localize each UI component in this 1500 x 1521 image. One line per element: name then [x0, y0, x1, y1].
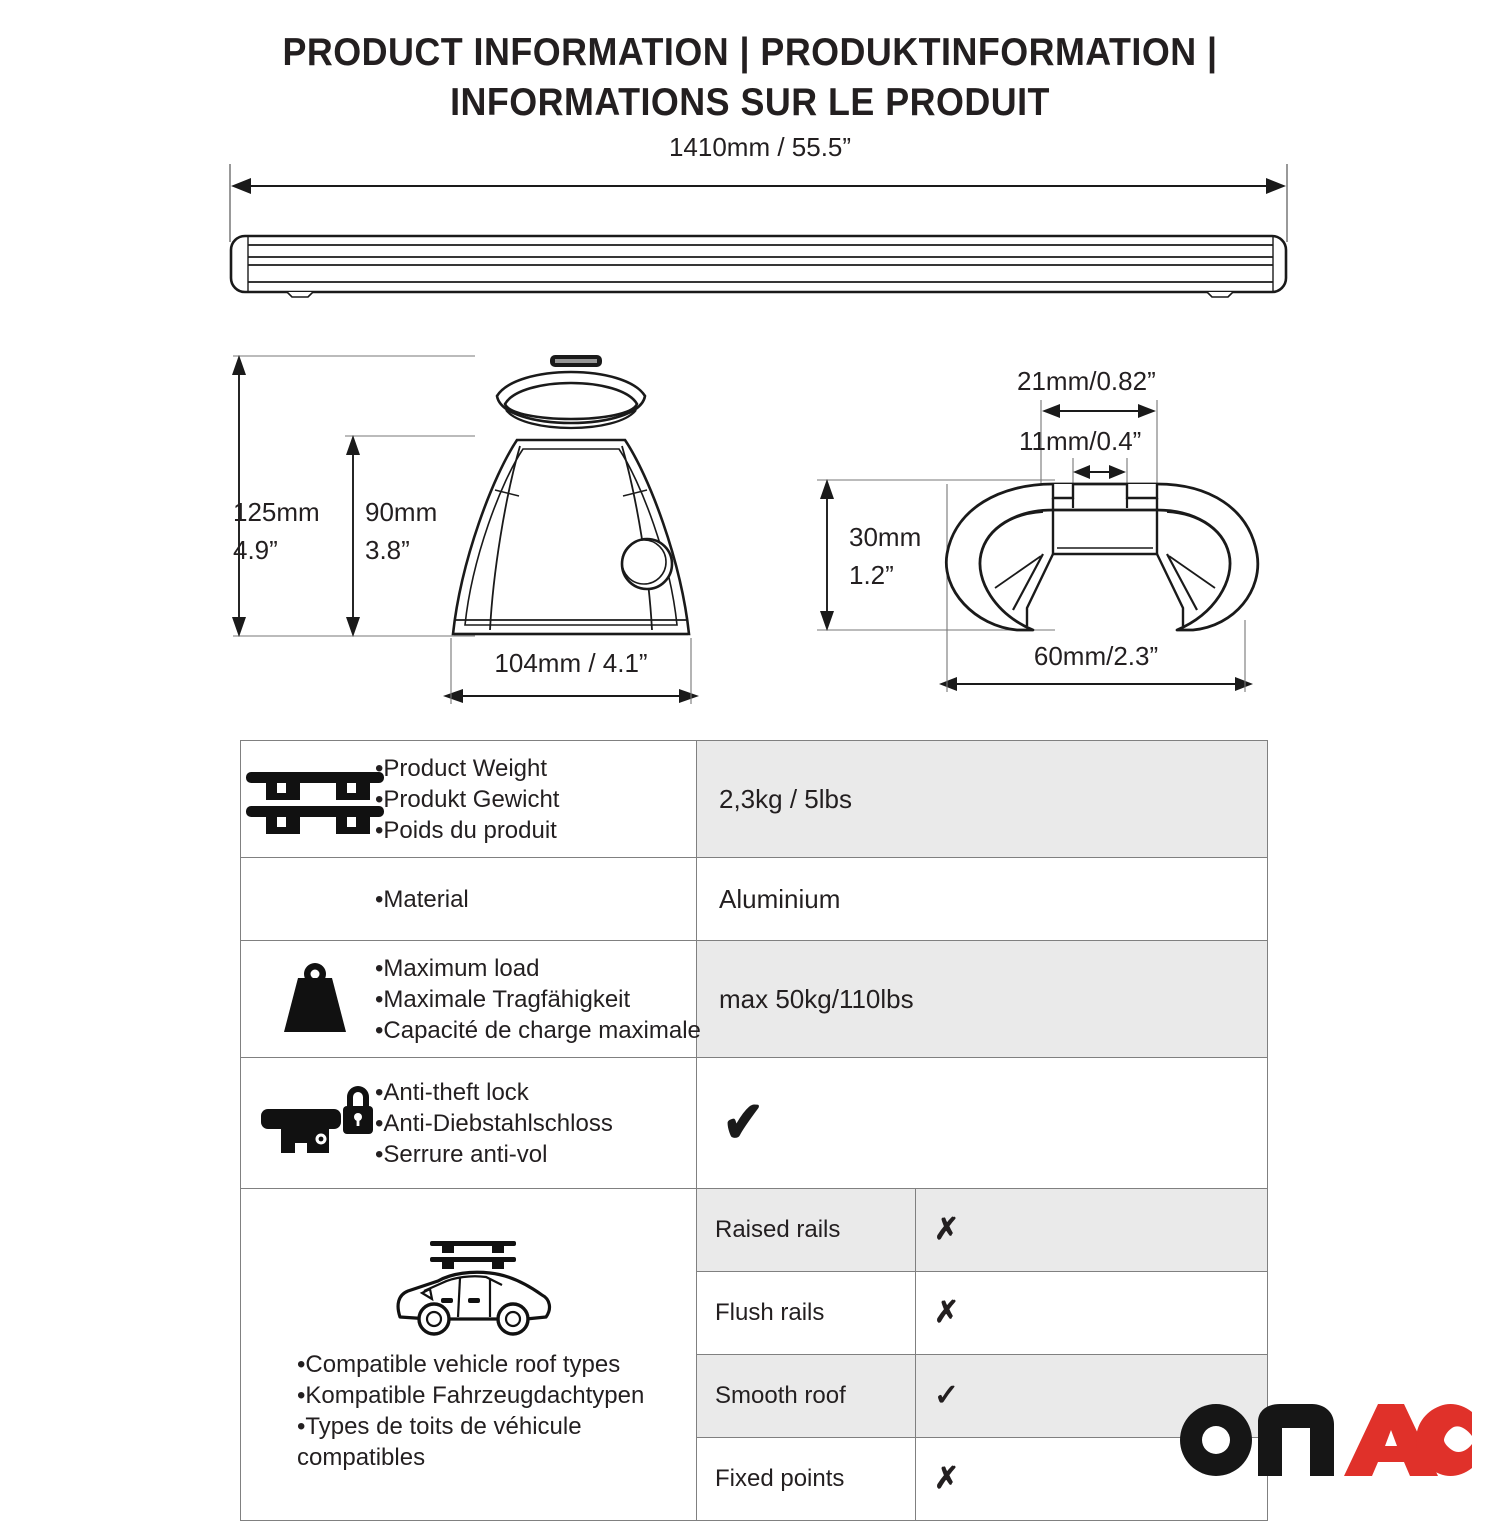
car-with-roofbars-icon	[386, 1233, 561, 1343]
spec-value-weight: 2,3kg / 5lbs	[697, 741, 1268, 858]
spec-value-maxload: max 50kg/110lbs	[697, 941, 1268, 1058]
spec-label-line: •Maximale Tragfähigkeit	[375, 984, 701, 1015]
spec-label-cell-material: •Material	[241, 858, 697, 941]
profile-top-width-label: 21mm/0.82”	[1017, 366, 1156, 397]
weight-icon	[255, 962, 375, 1036]
spec-label-texts-material: •Material	[375, 884, 469, 915]
profile-height-mm: 30mm	[849, 518, 921, 556]
page-title: PRODUCT INFORMATION | PRODUKTINFORMATION…	[0, 28, 1500, 128]
spec-label-cell-weight: •Product Weight •Produkt Gewicht •Poids …	[241, 741, 697, 858]
tower-inner-height-in: 3.8”	[365, 531, 437, 569]
cross-mark-icon: ✗	[934, 1462, 959, 1495]
spec-value-material: Aluminium	[697, 858, 1268, 941]
table-row: •Product Weight •Produkt Gewicht •Poids …	[241, 741, 1268, 858]
spec-label-line: •Produkt Gewicht	[375, 784, 559, 815]
spec-label-line: •Serrure anti-vol	[375, 1139, 613, 1170]
roof-option-name: Fixed points	[697, 1438, 916, 1521]
spec-label-line: •Capacité de charge maximale	[375, 1015, 701, 1046]
omac-logo	[1172, 1400, 1472, 1478]
spec-label-line: •Maximum load	[375, 953, 701, 984]
tower-dimension-diagram: 125mm 4.9” 90mm 3.8” 104mm / 4.1”	[225, 348, 725, 708]
spec-value-lock: ✔	[697, 1058, 1268, 1189]
spec-label-line: •Poids du produit	[375, 815, 559, 846]
lock-icon	[255, 1087, 375, 1159]
spec-label-line: •Compatible vehicle roof types	[297, 1349, 644, 1380]
product-information-sheet: PRODUCT INFORMATION | PRODUKTINFORMATION…	[0, 0, 1500, 1500]
profile-height-in: 1.2”	[849, 556, 921, 594]
roof-option-row: Raised rails ✗	[697, 1189, 1267, 1272]
roof-option-mark: ✗	[916, 1189, 1268, 1272]
spec-label-line: •Anti-Diebstahlschloss	[375, 1108, 613, 1139]
roof-option-name: Smooth roof	[697, 1355, 916, 1438]
roof-option-mark: ✗	[916, 1272, 1268, 1355]
spec-label-line: •Product Weight	[375, 753, 559, 784]
cross-mark-icon: ✗	[934, 1213, 959, 1246]
tower-inner-height-mm: 90mm	[365, 493, 437, 531]
spec-label-line: •Kompatible Fahrzeugdachtypen	[297, 1380, 644, 1411]
spec-label-cell-roof-types: •Compatible vehicle roof types •Kompatib…	[241, 1189, 697, 1521]
spec-label-cell-maxload: •Maximum load •Maximale Tragfähigkeit •C…	[241, 941, 697, 1058]
crossbar-length-diagram: 1410mm / 55.5”	[225, 132, 1295, 322]
cross-mark-icon: ✗	[934, 1296, 959, 1329]
table-row: •Material Aluminium	[241, 858, 1268, 941]
spec-label-texts-weight: •Product Weight •Produkt Gewicht •Poids …	[375, 753, 559, 846]
crossbar-profile-diagram: 21mm/0.82” 11mm/0.4” 30mm 1.2” 60mm/2.3”	[805, 358, 1295, 703]
profile-slot-width-label: 11mm/0.4”	[1019, 426, 1141, 457]
tower-total-height-in: 4.9”	[233, 531, 320, 569]
omac-logo-mark	[1172, 1400, 1472, 1478]
tower-total-height-mm: 125mm	[233, 493, 320, 531]
profile-total-width-label: 60mm/2.3”	[947, 641, 1245, 672]
table-row: •Anti-theft lock •Anti-Diebstahlschloss …	[241, 1058, 1268, 1189]
spec-label-line: •Types de toits de véhicule	[297, 1411, 644, 1442]
title-line-1: PRODUCT INFORMATION | PRODUKTINFORMATION…	[60, 28, 1440, 78]
roof-option-row: Flush rails ✗	[697, 1272, 1267, 1355]
spec-label-texts-maxload: •Maximum load •Maximale Tragfähigkeit •C…	[375, 953, 701, 1046]
profile-height-label: 30mm 1.2”	[849, 518, 921, 594]
spec-label-cell-lock: •Anti-theft lock •Anti-Diebstahlschloss …	[241, 1058, 697, 1189]
spec-label-line: compatibles	[297, 1442, 644, 1473]
spec-label-texts-lock: •Anti-theft lock •Anti-Diebstahlschloss …	[375, 1077, 613, 1170]
crossbar-length-label: 1410mm / 55.5”	[225, 132, 1295, 163]
tower-total-height-label: 125mm 4.9”	[233, 493, 320, 569]
table-row: •Compatible vehicle roof types •Kompatib…	[241, 1189, 1268, 1521]
spec-label-line: •Anti-theft lock	[375, 1077, 613, 1108]
spec-label-texts-roof-types: •Compatible vehicle roof types •Kompatib…	[255, 1349, 644, 1473]
specification-table: •Product Weight •Produkt Gewicht •Poids …	[240, 740, 1268, 1521]
check-mark-icon: ✓	[934, 1379, 959, 1412]
check-mark-icon: ✔	[723, 1094, 764, 1152]
spec-label-line: •Material	[375, 884, 469, 915]
table-row: •Maximum load •Maximale Tragfähigkeit •C…	[241, 941, 1268, 1058]
tower-base-width-label: 104mm / 4.1”	[451, 648, 691, 679]
roof-option-name: Raised rails	[697, 1189, 916, 1272]
two-crossbars-icon	[255, 764, 375, 834]
title-line-2: INFORMATIONS SUR LE PRODUIT	[60, 78, 1440, 128]
roof-option-name: Flush rails	[697, 1272, 916, 1355]
tower-inner-height-label: 90mm 3.8”	[365, 493, 437, 569]
